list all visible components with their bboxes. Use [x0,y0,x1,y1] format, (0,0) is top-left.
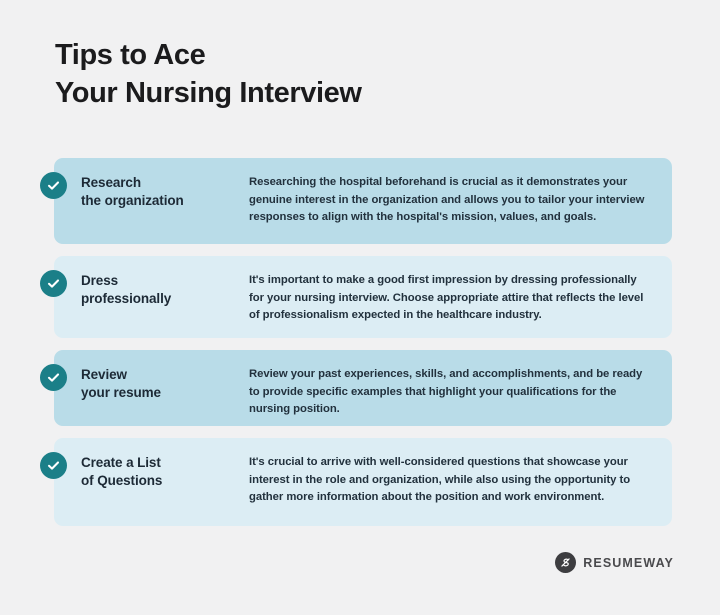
check-circle-icon [40,452,67,479]
tip-title: Dress professionally [81,272,249,325]
footer-branding: RESUMEWAY [555,552,674,573]
tip-body: Researching the hospital beforehand is c… [249,174,654,227]
infographic-page: Tips to Ace Your Nursing Interview Resea… [0,0,720,615]
tip-title-line-2: of Questions [81,472,249,490]
tip-title-line-1: Create a List [81,454,249,472]
tip-title: Research the organization [81,174,249,227]
tip-title: Review your resume [81,366,249,419]
page-title-line-1: Tips to Ace [55,36,575,74]
tip-card-dress: Dress professionally It's important to m… [54,256,672,338]
tip-title-line-2: your resume [81,384,249,402]
page-title: Tips to Ace Your Nursing Interview [55,36,575,112]
check-circle-icon [40,172,67,199]
tip-title-line-2: the organization [81,192,249,210]
tip-body: It's important to make a good first impr… [249,272,654,325]
tip-title-line-1: Research [81,174,249,192]
brand-name: RESUMEWAY [583,556,674,570]
page-title-line-2: Your Nursing Interview [55,74,575,112]
tip-title-line-1: Review [81,366,249,384]
tip-title: Create a List of Questions [81,454,249,507]
resumeway-logo-icon [555,552,576,573]
tip-card-questions: Create a List of Questions It's crucial … [54,438,672,526]
tip-title-line-2: professionally [81,290,249,308]
tip-card-resume: Review your resume Review your past expe… [54,350,672,426]
tip-body: Review your past experiences, skills, an… [249,366,654,419]
tip-card-research: Research the organization Researching th… [54,158,672,244]
tips-list: Research the organization Researching th… [54,158,672,526]
check-circle-icon [40,270,67,297]
check-circle-icon [40,364,67,391]
tip-body: It's crucial to arrive with well-conside… [249,454,654,507]
tip-title-line-1: Dress [81,272,249,290]
